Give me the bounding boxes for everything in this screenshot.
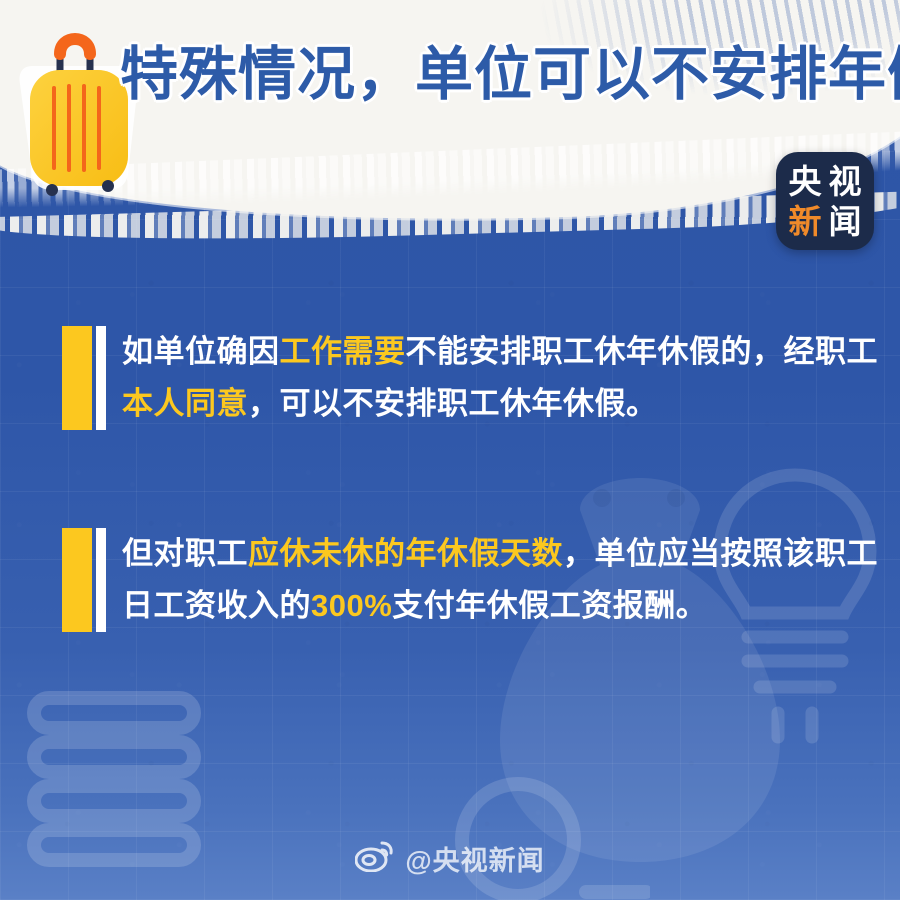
weibo-account: @央视新闻 <box>405 839 544 878</box>
logo-char-shi: 视 <box>825 161 865 201</box>
highlighted-text: 300% <box>311 588 392 623</box>
body-text: 不能安排职工休年休假的， <box>406 334 784 369</box>
weibo-icon <box>355 840 395 877</box>
accent-bar-yellow <box>62 528 92 632</box>
accent-bar-white <box>96 326 106 430</box>
logo-char-yang: 央 <box>785 161 825 201</box>
body-text: 如单位确因 <box>122 334 280 369</box>
content-block-2: 但对职工应休未休的年休假天数，单位应当按照该职工日工资收入的300%支付年休假工… <box>62 528 882 632</box>
cctv-news-logo: 央 视 新 闻 <box>776 152 874 250</box>
highlighted-text: 本人同意 <box>122 386 248 421</box>
page-title: 特殊情况，单位可以不安排年假 <box>120 46 880 104</box>
accent-bar-white <box>96 528 106 632</box>
accent-marker <box>62 528 108 632</box>
highlighted-text: 工作需要 <box>280 334 406 369</box>
highlighted-text: 应休未休的年休假天数 <box>248 536 563 571</box>
content-block-1: 如单位确因工作需要不能安排职工休年休假的，经职工本人同意，可以不安排职工休年休假… <box>62 326 882 430</box>
accent-marker <box>62 326 108 430</box>
logo-char-xin: 新 <box>785 201 825 241</box>
body-text: ，单位应当按照该 <box>563 536 815 571</box>
poster-canvas: 特殊情况，单位可以不安排年假 央 视 新 闻 如单位确因工作需要不能安排职工休年… <box>0 0 900 900</box>
paragraph-2: 但对职工应休未休的年休假天数，单位应当按照该职工日工资收入的300%支付年休假工… <box>122 528 882 632</box>
footer-watermark: @央视新闻 <box>0 839 900 878</box>
coin-circle-illustration <box>450 770 650 900</box>
logo-char-wen: 闻 <box>825 201 865 241</box>
body-text: ，可以不安排职工休年休假。 <box>248 386 658 421</box>
paragraph-1: 如单位确因工作需要不能安排职工休年休假的，经职工本人同意，可以不安排职工休年休假… <box>122 326 882 430</box>
accent-bar-yellow <box>62 326 92 430</box>
body-text: 经职工 <box>784 334 879 369</box>
body-text: 但对职工 <box>122 536 248 571</box>
body-text: 支付年休假工资报酬。 <box>392 588 707 623</box>
